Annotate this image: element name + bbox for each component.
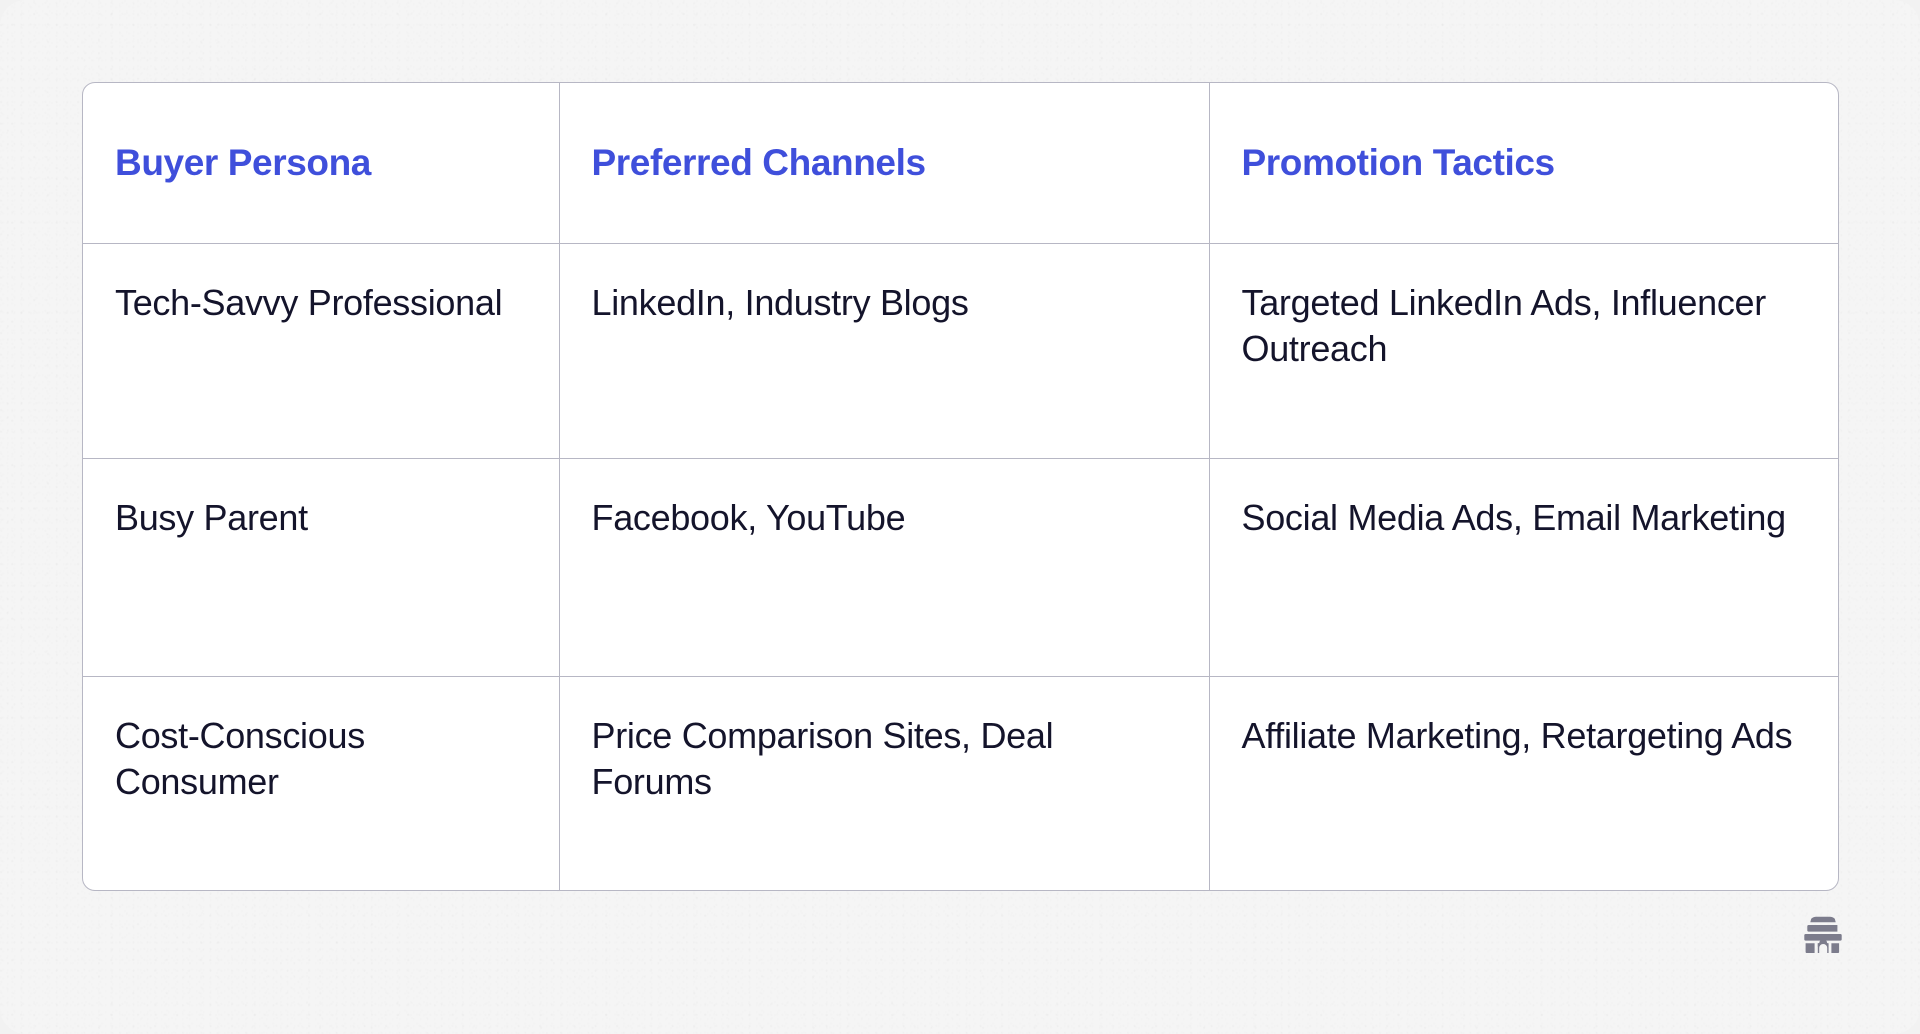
column-header-preferred-channels: Preferred Channels bbox=[559, 83, 1209, 243]
cell-promotion-tactics: Social Media Ads, Email Marketing bbox=[1209, 458, 1839, 676]
cell-preferred-channels: Facebook, YouTube bbox=[559, 458, 1209, 676]
table-row: Busy Parent Facebook, YouTube Social Med… bbox=[83, 458, 1839, 676]
table-row: Cost-Conscious Consumer Price Comparison… bbox=[83, 676, 1839, 891]
cell-buyer-persona: Busy Parent bbox=[83, 458, 559, 676]
persona-table: Buyer Persona Preferred Channels Promoti… bbox=[83, 83, 1839, 891]
table-header-row: Buyer Persona Preferred Channels Promoti… bbox=[83, 83, 1839, 243]
table-body: Tech-Savvy Professional LinkedIn, Indust… bbox=[83, 243, 1839, 891]
cell-promotion-tactics: Affiliate Marketing, Retargeting Ads bbox=[1209, 676, 1839, 891]
page-canvas: Buyer Persona Preferred Channels Promoti… bbox=[0, 0, 1920, 1034]
cell-preferred-channels: Price Comparison Sites, Deal Forums bbox=[559, 676, 1209, 891]
cell-promotion-tactics: Targeted LinkedIn Ads, Influencer Outrea… bbox=[1209, 243, 1839, 458]
cell-buyer-persona: Tech-Savvy Professional bbox=[83, 243, 559, 458]
column-header-promotion-tactics: Promotion Tactics bbox=[1209, 83, 1839, 243]
table-card: Buyer Persona Preferred Channels Promoti… bbox=[82, 82, 1839, 891]
beehive-icon bbox=[1803, 916, 1843, 954]
column-header-buyer-persona: Buyer Persona bbox=[83, 83, 559, 243]
cell-preferred-channels: LinkedIn, Industry Blogs bbox=[559, 243, 1209, 458]
table-header: Buyer Persona Preferred Channels Promoti… bbox=[83, 83, 1839, 243]
table-row: Tech-Savvy Professional LinkedIn, Indust… bbox=[83, 243, 1839, 458]
cell-buyer-persona: Cost-Conscious Consumer bbox=[83, 676, 559, 891]
